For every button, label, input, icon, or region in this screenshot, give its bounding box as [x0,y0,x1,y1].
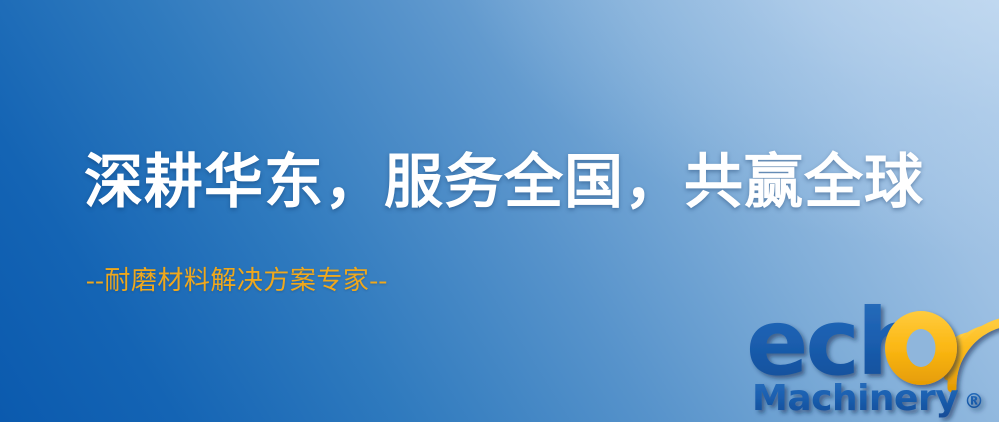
promotional-banner: 深耕华东，服务全国，共赢全球 --耐磨材料解决方案专家-- [0,0,999,422]
logo-wordmark-o [885,311,957,385]
logo-tagline: Machinery [752,378,958,419]
banner-headline: 深耕华东，服务全国，共赢全球 [84,152,924,214]
logo-trademark-symbol: ® [964,389,984,413]
banner-subheadline: --耐磨材料解决方案专家-- [86,265,388,296]
echo-machinery-logo: ech Machinery ® [748,288,999,422]
